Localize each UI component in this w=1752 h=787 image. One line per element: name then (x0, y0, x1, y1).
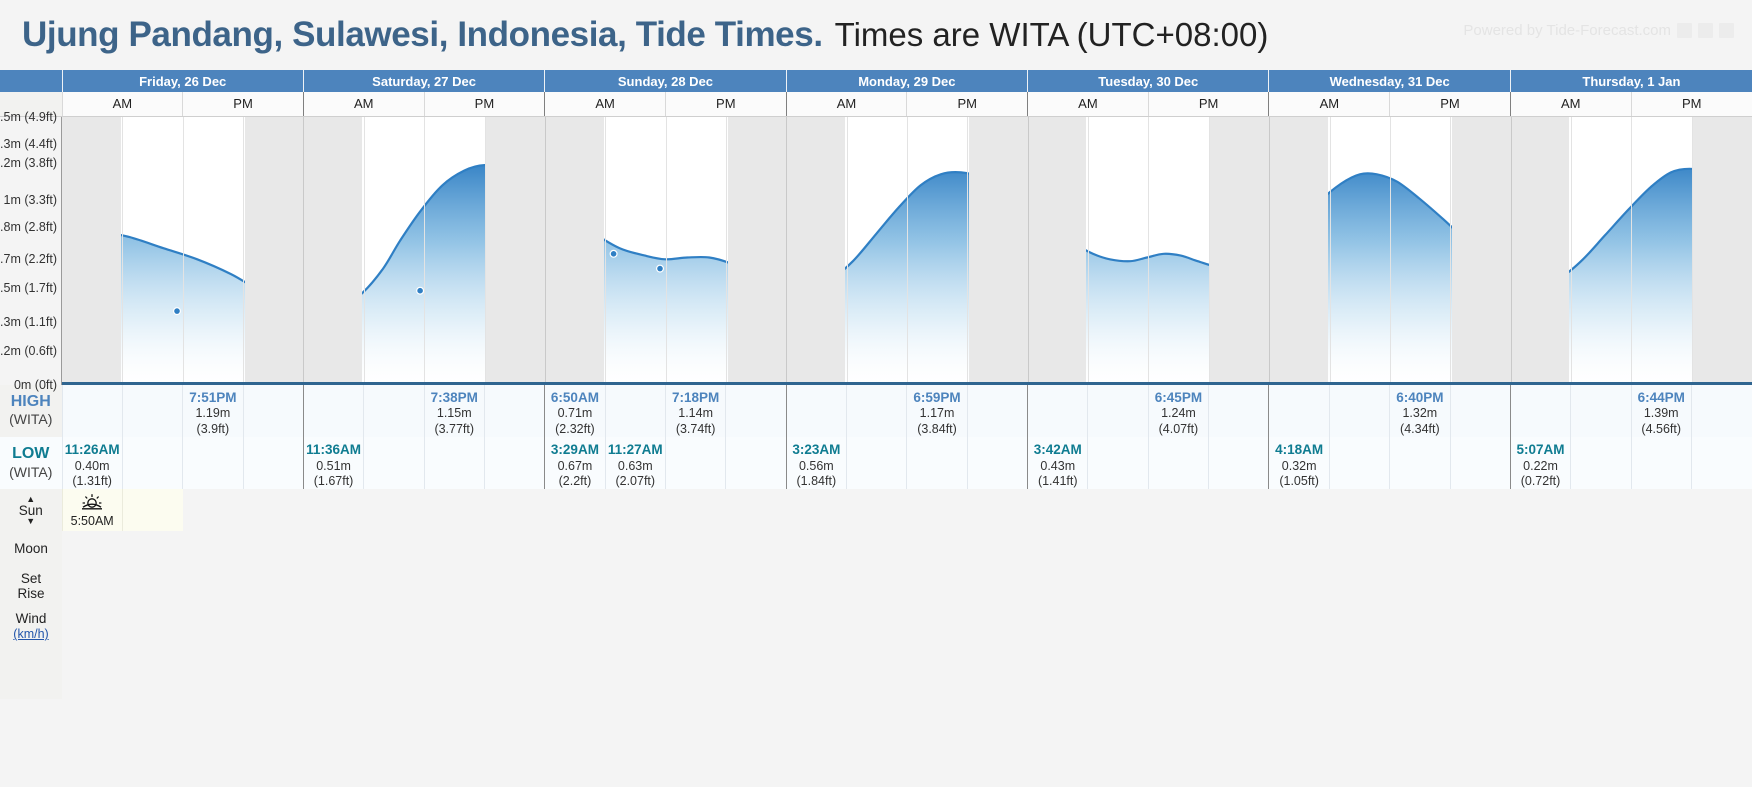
low-tide-meters: 0.43m (1028, 459, 1087, 474)
halfday-2-am: AM (545, 92, 666, 116)
y-tick-4: 0.8m (2.8ft) (0, 220, 57, 234)
y-tick-8: 0.2m (0.6ft) (0, 344, 57, 358)
high-tide-cell (243, 385, 303, 437)
halfday-4-pm: PM (1148, 92, 1269, 116)
high-tide-time: 6:45PM (1149, 390, 1208, 407)
high-tide-time: 6:40PM (1390, 390, 1449, 407)
y-axis-cell: 1.5m (4.9ft)1.3m (4.4ft)1.2m (3.8ft)1m (… (0, 116, 62, 385)
sun-rise-time: 5:50AM (63, 514, 122, 528)
day-header-3: Monday, 29 Dec (786, 70, 1027, 92)
day-header-2: Sunday, 28 Dec (545, 70, 786, 92)
high-tide-feet: (3.9ft) (183, 422, 242, 437)
low-tide-cell (364, 437, 424, 489)
halfday-3-pm: PM (907, 92, 1028, 116)
high-tide-feet: (2.32ft) (545, 422, 604, 437)
low-tide-meters: 0.22m (1511, 459, 1570, 474)
low-label-text: LOW (0, 445, 62, 463)
low-tide-cell: 3:29AM0.67m(2.2ft) (545, 437, 605, 489)
high-tide-cell (62, 385, 122, 437)
low-tide-time: 4:18AM (1269, 442, 1328, 459)
low-tide-cell (1209, 437, 1269, 489)
halfday-2-pm: PM (665, 92, 786, 116)
high-tide-cell (726, 385, 786, 437)
night-band (1028, 117, 1087, 385)
high-tide-cell (605, 385, 665, 437)
chart-gridline (364, 117, 365, 385)
night-band (1511, 117, 1570, 385)
sun-label-text: Sun (0, 504, 62, 518)
halfday-6-pm: PM (1631, 92, 1752, 116)
y-tick-9: 0m (0ft) (14, 378, 57, 392)
page-subtitle: Times are WITA (UTC+08:00) (835, 16, 1269, 54)
chart-gridline (1692, 117, 1693, 385)
night-band (1269, 117, 1328, 385)
chart-gridline (1028, 117, 1029, 385)
day-header-row: Friday, 26 DecSaturday, 27 DecSunday, 28… (0, 70, 1752, 92)
high-label-text: HIGH (0, 393, 62, 411)
tide-extreme-marker-low (417, 287, 424, 294)
tide-extreme-marker-low (174, 307, 181, 314)
low-tide-feet: (1.67ft) (304, 474, 363, 489)
halfday-6-am: AM (1510, 92, 1631, 116)
day-header-0: Friday, 26 Dec (62, 70, 303, 92)
night-band (545, 117, 604, 385)
high-tide-cell (967, 385, 1027, 437)
day-header-6: Thursday, 1 Jan (1510, 70, 1752, 92)
low-tide-time: 11:36AM (304, 442, 363, 459)
sun-label: ▲ Sun ▼ (0, 489, 62, 531)
chart-gridline (1269, 117, 1270, 385)
night-band (1693, 117, 1752, 385)
sun-rise-cell: 5:50AM (62, 489, 122, 531)
page-title: Ujung Pandang, Sulawesi, Indonesia, Tide… (22, 15, 823, 55)
night-band (1210, 117, 1269, 385)
high-tide-feet: (4.34ft) (1390, 422, 1449, 437)
low-tide-feet: (2.2ft) (545, 474, 604, 489)
high-tide-time: 6:50AM (545, 390, 604, 407)
high-tide-cell (484, 385, 544, 437)
night-band (1452, 117, 1511, 385)
high-tide-cell: 6:40PM1.32m(4.34ft) (1390, 385, 1450, 437)
tide-extreme-marker-high (610, 250, 617, 257)
low-tide-cell (243, 437, 303, 489)
high-label-tz: (WITA) (0, 411, 62, 428)
day-header-spacer (0, 70, 62, 92)
high-tide-feet: (3.74ft) (666, 422, 725, 437)
high-tide-feet: (4.07ft) (1149, 422, 1208, 437)
high-tide-meters: 1.15m (425, 406, 484, 421)
chart-gridline (1209, 117, 1210, 385)
low-tide-meters: 0.63m (606, 459, 665, 474)
high-tide-meters: 1.39m (1632, 406, 1691, 421)
low-tide-time: 11:26AM (63, 442, 122, 459)
high-tide-cell (122, 385, 182, 437)
chart-row: 1.5m (4.9ft)1.3m (4.4ft)1.2m (3.8ft)1m (… (0, 116, 1752, 385)
low-tide-cell (1691, 437, 1752, 489)
high-tide-cell (847, 385, 907, 437)
powered-by-label: Powered by Tide-Forecast.com (1463, 22, 1671, 39)
low-tide-meters: 0.51m (304, 459, 363, 474)
footer-watermarks (0, 699, 1752, 725)
high-tide-row: HIGH (WITA) 7:51PM1.19m(3.9ft)7:38PM1.15… (0, 385, 1752, 437)
chart-gridline (424, 117, 425, 385)
high-tide-cell: 6:45PM1.24m(4.07ft) (1148, 385, 1208, 437)
low-tide-time: 3:23AM (787, 442, 846, 459)
chart-gridline (847, 117, 848, 385)
y-tick-5: 0.7m (2.2ft) (0, 252, 57, 266)
high-tide-cell (1088, 385, 1148, 437)
chart-cell (62, 116, 1752, 385)
chart-gridline (605, 117, 606, 385)
halfday-1-pm: PM (424, 92, 545, 116)
high-tide-cell (1209, 385, 1269, 437)
chart-gridline (726, 117, 727, 385)
halfday-0-am: AM (62, 92, 183, 116)
high-tide-cell (1691, 385, 1752, 437)
powered-by-watermark: Powered by Tide-Forecast.com (1463, 22, 1734, 39)
low-tide-feet: (1.41ft) (1028, 474, 1087, 489)
low-tide-cell: 5:07AM0.22m(0.72ft) (1510, 437, 1570, 489)
low-tide-cell (1088, 437, 1148, 489)
weather-row (0, 645, 1752, 699)
low-tide-cell (967, 437, 1027, 489)
y-tick-6: 0.5m (1.7ft) (0, 281, 57, 295)
chart-gridline (545, 117, 546, 385)
chart-gridline (1330, 117, 1331, 385)
chart-gridline (485, 117, 486, 385)
page-header: Ujung Pandang, Sulawesi, Indonesia, Tide… (0, 0, 1752, 70)
high-tide-meters: 1.24m (1149, 406, 1208, 421)
night-band (62, 117, 121, 385)
night-band (728, 117, 787, 385)
tide-extreme-marker-low (657, 265, 664, 272)
halfday-0-pm: PM (183, 92, 304, 116)
high-tide-meters: 0.71m (545, 406, 604, 421)
halfday-5-am: AM (1269, 92, 1390, 116)
low-tide-cell: 11:36AM0.51m(1.67ft) (303, 437, 363, 489)
high-tide-feet: (3.77ft) (425, 422, 484, 437)
chart-gridline (907, 117, 908, 385)
halfday-1-am: AM (303, 92, 424, 116)
low-tide-cell (1450, 437, 1510, 489)
tide-table: Friday, 26 DecSaturday, 27 DecSunday, 28… (0, 70, 1752, 699)
low-tide-cell: 11:27AM0.63m(2.07ft) (605, 437, 665, 489)
chart-gridline (1088, 117, 1089, 385)
chart-gridline (1631, 117, 1632, 385)
moon-set-label: Set (0, 571, 62, 586)
high-tide-cell (1028, 385, 1088, 437)
high-tide-cell (1269, 385, 1329, 437)
low-tide-cell (424, 437, 484, 489)
high-tide-cell: 6:59PM1.17m(3.84ft) (907, 385, 967, 437)
high-tide-cell (786, 385, 846, 437)
moon-rise-label: Rise (0, 586, 62, 601)
chart-gridline (967, 117, 968, 385)
high-tide-meters: 1.14m (666, 406, 725, 421)
chart-icon (1677, 23, 1692, 38)
high-tide-cell (364, 385, 424, 437)
low-tide-time: 11:27AM (606, 442, 665, 459)
low-tide-cell (1390, 437, 1450, 489)
tide-forecast-page: Ujung Pandang, Sulawesi, Indonesia, Tide… (0, 0, 1752, 787)
low-tide-cell: 3:42AM0.43m(1.41ft) (1028, 437, 1088, 489)
low-tide-cell (1329, 437, 1389, 489)
high-tide-cell (1510, 385, 1570, 437)
high-tide-time: 6:59PM (907, 390, 966, 407)
low-tide-cell (122, 437, 182, 489)
chart-gridline (1511, 117, 1512, 385)
low-tide-cell (1571, 437, 1631, 489)
wind-label: Wind (km/h) (0, 607, 62, 645)
chart-gridline (786, 117, 787, 385)
high-tide-meters: 1.19m (183, 406, 242, 421)
chart-gridline (1450, 117, 1451, 385)
moon-label: Moon (0, 531, 62, 565)
high-tide-time: 7:38PM (425, 390, 484, 407)
low-tide-feet: (1.05ft) (1269, 474, 1328, 489)
low-tide-time: 3:42AM (1028, 442, 1087, 459)
moon-row: Moon (0, 531, 1752, 565)
high-tide-feet: (4.56ft) (1632, 422, 1691, 437)
sunrise-icon (63, 493, 122, 513)
y-tick-3: 1m (3.3ft) (4, 193, 58, 207)
y-tick-0: 1.5m (4.9ft) (0, 110, 57, 124)
halfday-5-pm: PM (1390, 92, 1511, 116)
low-tide-meters: 0.40m (63, 459, 122, 474)
high-tide-cell (1571, 385, 1631, 437)
y-tick-1: 1.3m (4.4ft) (0, 137, 57, 151)
high-tide-time: 7:18PM (666, 390, 725, 407)
chart-gridline (666, 117, 667, 385)
low-tide-cell (665, 437, 725, 489)
high-tide-cell (1329, 385, 1389, 437)
low-tide-cell (183, 437, 243, 489)
day-header-1: Saturday, 27 Dec (303, 70, 544, 92)
low-tide-time: 3:29AM (545, 442, 604, 459)
high-tide-time: 6:44PM (1632, 390, 1691, 407)
y-tick-7: 0.3m (1.1ft) (0, 315, 57, 329)
tide-chart-plot (62, 117, 1752, 385)
night-band (245, 117, 304, 385)
high-tide-cell (1450, 385, 1510, 437)
low-tide-meters: 0.32m (1269, 459, 1328, 474)
low-tide-feet: (1.31ft) (63, 474, 122, 489)
refresh-icon (1698, 23, 1713, 38)
low-tide-cell: 4:18AM0.32m(1.05ft) (1269, 437, 1329, 489)
day-header-4: Tuesday, 30 Dec (1028, 70, 1269, 92)
halfday-3-am: AM (786, 92, 907, 116)
high-tide-meters: 1.32m (1390, 406, 1449, 421)
low-tide-cell (847, 437, 907, 489)
low-tide-feet: (1.84ft) (787, 474, 846, 489)
moon-setrise-label: Set Rise (0, 565, 62, 607)
high-tide-cell: 7:18PM1.14m(3.74ft) (665, 385, 725, 437)
night-band (303, 117, 362, 385)
chart-gridline (183, 117, 184, 385)
sun-down-arrow-icon: ▼ (0, 517, 62, 526)
wind-label-text: Wind (0, 611, 62, 627)
chart-gridline (1390, 117, 1391, 385)
chart-gridline (122, 117, 123, 385)
low-tide-cell: 3:23AM0.56m(1.84ft) (786, 437, 846, 489)
low-tide-feet: (2.07ft) (606, 474, 665, 489)
high-tide-time: 7:51PM (183, 390, 242, 407)
low-tide-feet: (0.72ft) (1511, 474, 1570, 489)
high-tide-cell (303, 385, 363, 437)
low-tide-cell (1148, 437, 1208, 489)
night-band (786, 117, 845, 385)
chart-gridline (1571, 117, 1572, 385)
chart-gridline (1148, 117, 1149, 385)
tide-icon (1719, 23, 1734, 38)
wind-row: Wind (km/h) (0, 607, 1752, 645)
high-tide-cell: 7:51PM1.19m(3.9ft) (183, 385, 243, 437)
chart-gridline (243, 117, 244, 385)
night-band (486, 117, 545, 385)
day-header-5: Wednesday, 31 Dec (1269, 70, 1510, 92)
sun-row: ▲ Sun ▼ 5:50AM (0, 489, 1752, 531)
y-axis: 1.5m (4.9ft)1.3m (4.4ft)1.2m (3.8ft)1m (… (0, 117, 62, 385)
halfday-4-am: AM (1028, 92, 1149, 116)
weather-label-spacer (0, 645, 62, 699)
low-tide-label: LOW (WITA) (0, 437, 62, 489)
chart-gridline (303, 117, 304, 385)
high-tide-cell: 7:38PM1.15m(3.77ft) (424, 385, 484, 437)
low-tide-cell: 11:26AM0.40m(1.31ft) (62, 437, 122, 489)
high-tide-cell: 6:50AM0.71m(2.32ft) (545, 385, 605, 437)
low-label-tz: (WITA) (0, 464, 62, 481)
low-tide-row: LOW (WITA) 11:26AM0.40m(1.31ft)11:36AM0.… (0, 437, 1752, 489)
moon-setrise-row: Set Rise (0, 565, 1752, 607)
halfday-header-row: AMPMAMPMAMPMAMPMAMPMAMPMAMPM (0, 92, 1752, 116)
y-tick-2: 1.2m (3.8ft) (0, 156, 57, 170)
high-tide-meters: 1.17m (907, 406, 966, 421)
high-tide-label: HIGH (WITA) (0, 385, 62, 437)
low-tide-cell (726, 437, 786, 489)
low-tide-time: 5:07AM (1511, 442, 1570, 459)
low-tide-cell (1631, 437, 1691, 489)
sun-empty-cell (122, 489, 182, 531)
high-tide-feet: (3.84ft) (907, 422, 966, 437)
low-tide-cell (484, 437, 544, 489)
wind-unit-link[interactable]: (km/h) (0, 627, 62, 641)
night-band (969, 117, 1028, 385)
high-tide-cell: 6:44PM1.39m(4.56ft) (1631, 385, 1691, 437)
low-tide-meters: 0.56m (787, 459, 846, 474)
low-tide-meters: 0.67m (545, 459, 604, 474)
low-tide-cell (907, 437, 967, 489)
